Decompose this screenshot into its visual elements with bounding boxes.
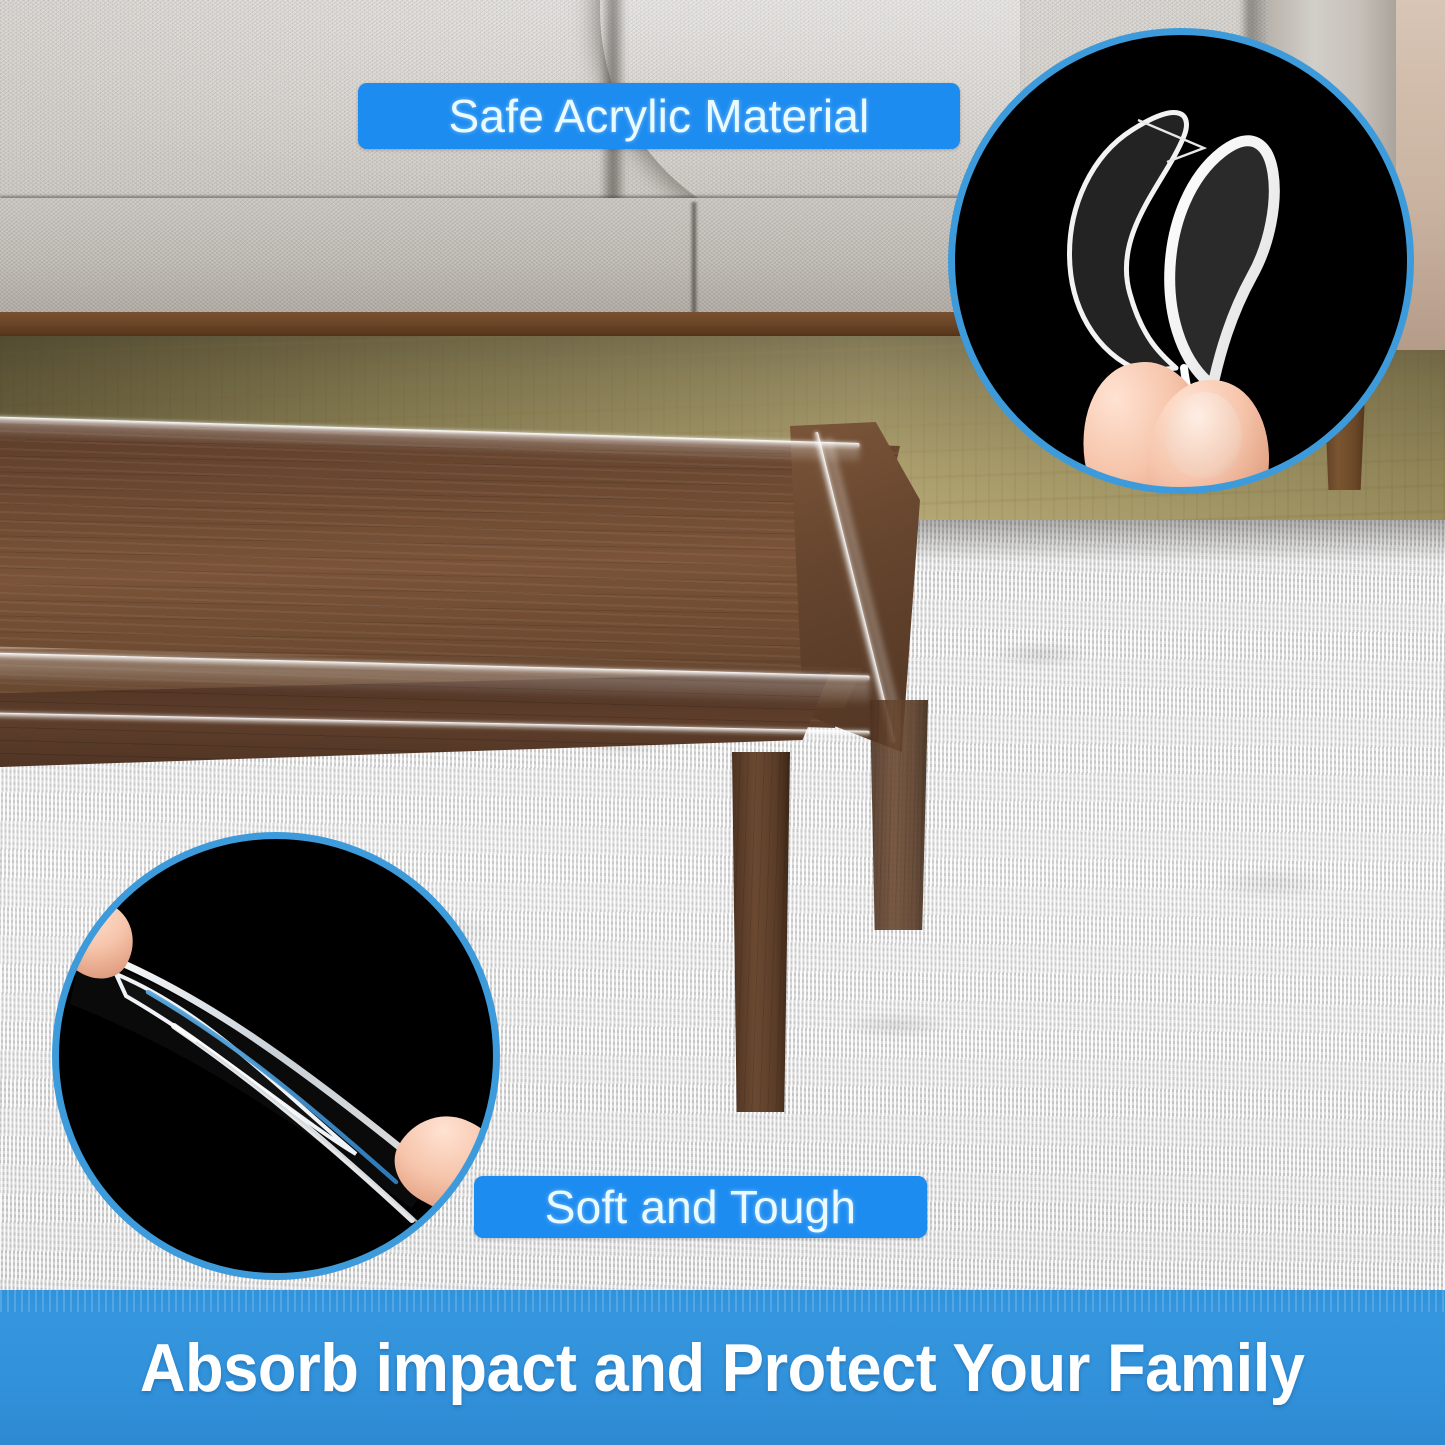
bottom-banner-label: Absorb impact and Protect Your Family — [140, 1329, 1305, 1407]
strip-fold — [116, 974, 356, 1154]
inset-peel-bend — [56, 836, 496, 1276]
acrylic-strip-bend-illustration — [56, 836, 496, 1276]
badge-safe-acrylic-material-label: Safe Acrylic Material — [449, 89, 870, 143]
product-image-canvas: Safe Acrylic Material Soft and Tough Abs… — [0, 0, 1445, 1445]
inset-flex-loop — [952, 32, 1410, 490]
loop-front-strip — [1170, 141, 1275, 382]
badge-safe-acrylic-material: Safe Acrylic Material — [358, 83, 960, 149]
sofa-seat-seam — [690, 202, 698, 322]
bottom-banner: Absorb impact and Protect Your Family — [0, 1290, 1445, 1445]
table-leg-front — [732, 752, 790, 1112]
badge-soft-and-tough-label: Soft and Tough — [545, 1180, 856, 1234]
badge-soft-and-tough: Soft and Tough — [474, 1176, 927, 1238]
table-leg-rear — [870, 700, 928, 930]
